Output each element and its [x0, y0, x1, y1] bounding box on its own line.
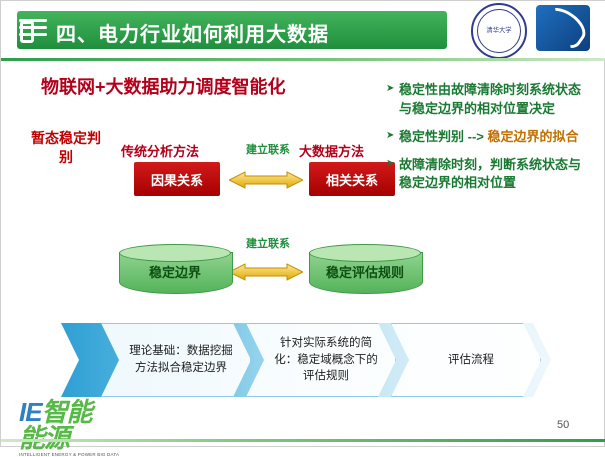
content-heading: 物联网+大数据助力调度智能化: [41, 73, 286, 99]
double-arrow-bottom-icon: [229, 263, 303, 281]
bullet-text: 故障清除时刻，判断系统状态与稳定边界的相对位置: [399, 157, 581, 191]
slide-root: 四、电力行业如何利用大数据 清华大学 物联网+大数据助力调度智能化 暂态稳定判别…: [0, 0, 605, 447]
link-label-bottom: 建立联系: [246, 235, 290, 251]
hamburger-icon-accent: [20, 21, 34, 43]
process-chevron-row: 理论基础：数据挖掘方法拟合稳定边界 针对实际系统的简化：稳定域概念下的评估规则 …: [61, 323, 551, 397]
footer-logo: IE智能能源 INTELLIGENT ENERGY & POWER BIG DA…: [19, 399, 109, 435]
link-label-top: 建立联系: [246, 141, 290, 157]
process-step-2-text: 针对实际系统的简化：稳定域概念下的评估规则: [269, 335, 383, 385]
bullet-text: 稳定性判别 -->: [399, 129, 487, 144]
page-number: 50: [557, 419, 569, 431]
page-title: 四、电力行业如何利用大数据: [56, 18, 329, 47]
column-heading-bigdata: 大数据方法: [299, 141, 364, 160]
footer-logo-accent: 智能能源: [19, 397, 92, 453]
footer-logo-subtitle: INTELLIGENT ENERGY & POWER BIG DATA: [19, 452, 109, 457]
box-correlation-relation: 相关关系: [309, 162, 395, 196]
footer-divider: [1, 439, 605, 442]
column-heading-traditional: 传统分析方法: [121, 141, 199, 160]
cylinder-stability-boundary: 稳定边界: [119, 244, 231, 298]
slide-header: 四、电力行业如何利用大数据 清华大学: [1, 1, 605, 59]
organization-logo-icon: [536, 5, 590, 51]
bullet-text: 稳定性由故障清除时刻系统状态与稳定边界的相对位置决定: [399, 82, 581, 116]
bullet-item: 故障清除时刻，判断系统状态与稳定边界的相对位置: [386, 156, 591, 194]
category-label: 暂态稳定判别: [31, 129, 101, 167]
process-step-2: 针对实际系统的简化：稳定域概念下的评估规则: [246, 323, 396, 397]
process-step-1-text: 理论基础：数据挖掘方法拟合稳定边界: [124, 343, 238, 376]
seal-label: 清华大学: [486, 28, 511, 35]
bullet-accent-text: 稳定边界的拟合: [487, 129, 578, 144]
header-divider: [1, 58, 605, 61]
double-arrow-top-icon: [229, 171, 303, 189]
process-step-3: 评估流程: [391, 323, 541, 397]
bullet-list: 稳定性由故障清除时刻系统状态与稳定边界的相对位置决定 稳定性判别 --> 稳定边…: [386, 81, 591, 202]
box-causal-relation: 因果关系: [134, 162, 220, 196]
cylinder-right-label: 稳定评估规则: [309, 262, 421, 281]
university-seal-icon: 清华大学: [471, 3, 527, 59]
bullet-item: 稳定性由故障清除时刻系统状态与稳定边界的相对位置决定: [386, 81, 591, 119]
process-step-1: 理论基础：数据挖掘方法拟合稳定边界: [101, 323, 251, 397]
process-step-3-text: 评估流程: [414, 352, 528, 369]
cylinder-evaluation-rule: 稳定评估规则: [309, 244, 421, 298]
bullet-item: 稳定性判别 --> 稳定边界的拟合: [386, 128, 591, 147]
cylinder-left-label: 稳定边界: [119, 262, 231, 281]
footer-logo-main: IE智能能源: [19, 399, 109, 451]
